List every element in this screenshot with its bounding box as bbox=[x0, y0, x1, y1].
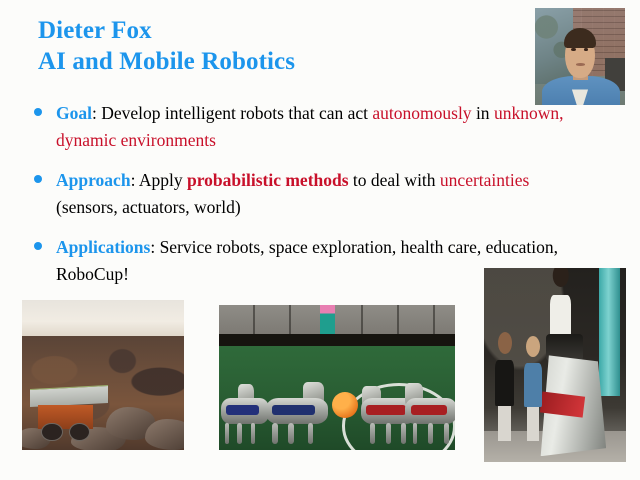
aibo-leg bbox=[308, 423, 314, 445]
mars-sky bbox=[22, 300, 184, 339]
portrait-eye-right bbox=[584, 48, 589, 51]
aibo-team-marker bbox=[411, 405, 447, 415]
photo-portrait bbox=[535, 8, 625, 105]
presentation-slide: Dieter Fox AI and Mobile Robotics Goal: … bbox=[0, 0, 640, 480]
aibo-leg bbox=[272, 423, 278, 445]
portrait-mouth bbox=[576, 63, 586, 65]
bullet-text: to deal with bbox=[349, 170, 440, 190]
aibo-team-marker bbox=[272, 405, 315, 415]
rover-wheel bbox=[41, 423, 62, 442]
museum-visitor-child bbox=[493, 332, 517, 441]
aibo-leg bbox=[288, 423, 294, 445]
bullet-highlight: autonomously bbox=[372, 103, 471, 123]
page-title: Dieter Fox AI and Mobile Robotics bbox=[38, 16, 295, 77]
bullet-highlight: probabilistic methods bbox=[187, 170, 349, 190]
aibo-leg bbox=[237, 423, 241, 445]
photo-mars-rover bbox=[22, 300, 184, 450]
bullet-text: (sensors, actuators, world) bbox=[56, 197, 241, 217]
mars-image bbox=[22, 300, 184, 450]
robocup-corner-marker bbox=[320, 305, 334, 335]
list-item: Approach: Apply probabilistic methods to… bbox=[20, 167, 580, 220]
aibo-leg bbox=[225, 423, 229, 445]
visitor-torso bbox=[495, 360, 513, 406]
aibo-robot-dog bbox=[266, 380, 327, 444]
list-item: Goal: Develop intelligent robots that ca… bbox=[20, 100, 580, 153]
visitor-torso bbox=[524, 363, 542, 407]
bullet-dot-icon bbox=[34, 108, 42, 116]
aibo-leg bbox=[370, 423, 375, 445]
aibo-leg bbox=[386, 423, 391, 445]
photo-robocup-soccer bbox=[219, 305, 455, 450]
visitor-head bbox=[552, 268, 568, 287]
bullet-text: : Develop intelligent robots that can ac… bbox=[92, 103, 372, 123]
visitor-head bbox=[526, 336, 540, 357]
photo-museum-robot bbox=[484, 268, 626, 462]
bullet-keyword: Goal bbox=[56, 103, 92, 123]
portrait-image bbox=[535, 8, 625, 105]
title-line-1: Dieter Fox bbox=[38, 16, 295, 47]
aibo-leg bbox=[251, 423, 255, 445]
bullet-dot-icon bbox=[34, 175, 42, 183]
bullet-text: in bbox=[472, 103, 494, 123]
aibo-leg bbox=[428, 423, 433, 445]
visitor-legs bbox=[527, 407, 540, 441]
aibo-team-marker bbox=[366, 405, 406, 415]
museum-pillar bbox=[599, 268, 620, 396]
aibo-robot-dog bbox=[405, 380, 455, 444]
bullet-text: : Apply bbox=[131, 170, 187, 190]
title-line-2: AI and Mobile Robotics bbox=[38, 47, 295, 78]
museum-visitor-child bbox=[521, 336, 545, 441]
aibo-leg bbox=[444, 423, 449, 445]
aibo-robot-dog bbox=[221, 380, 268, 444]
visitor-legs bbox=[498, 406, 511, 441]
visitor-head bbox=[498, 332, 512, 354]
bullet-keyword: Applications bbox=[56, 237, 150, 257]
bullet-dot-icon bbox=[34, 242, 42, 250]
aibo-leg bbox=[413, 423, 418, 445]
portrait-eye-left bbox=[571, 48, 576, 51]
bullet-highlight: uncertainties bbox=[440, 170, 529, 190]
bullet-keyword: Approach bbox=[56, 170, 131, 190]
mars-rock bbox=[145, 419, 184, 450]
robocup-image bbox=[219, 305, 455, 450]
museum-image bbox=[484, 268, 626, 462]
aibo-team-marker bbox=[226, 405, 259, 415]
